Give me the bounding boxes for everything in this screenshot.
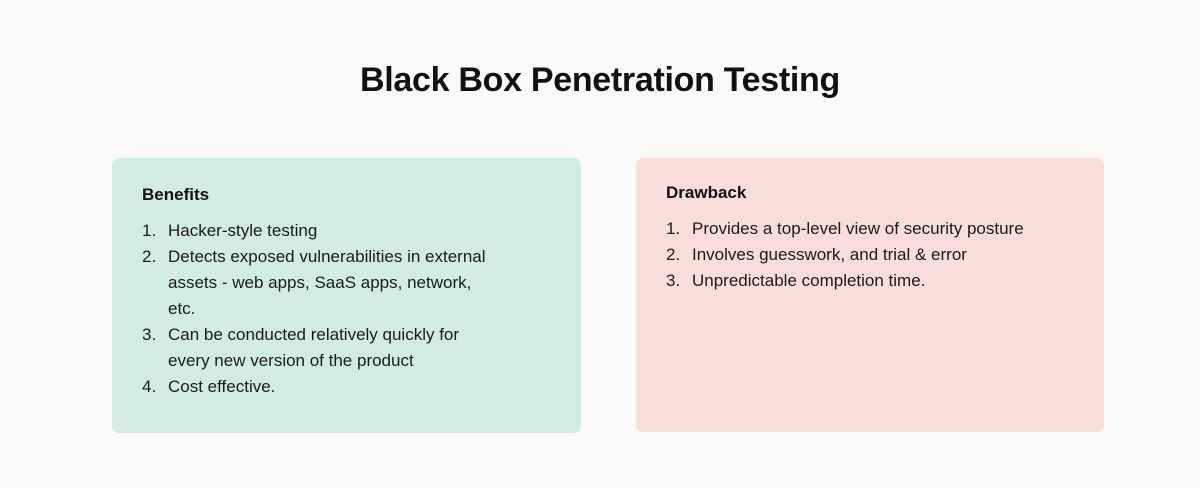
- cards-row: Benefits Hacker-style testing Detects ex…: [112, 158, 1104, 433]
- list-item: Unpredictable completion time.: [666, 268, 1027, 294]
- list-item: Detects exposed vulnerabilities in exter…: [142, 244, 498, 322]
- list-item: Hacker-style testing: [142, 218, 498, 244]
- list-item: Provides a top-level view of security po…: [666, 216, 1027, 242]
- benefits-list: Hacker-style testing Detects exposed vul…: [142, 218, 559, 400]
- drawback-list: Provides a top-level view of security po…: [666, 216, 1082, 294]
- list-item: Cost effective.: [142, 374, 498, 400]
- page-title: Black Box Penetration Testing: [0, 58, 1200, 102]
- benefits-card: Benefits Hacker-style testing Detects ex…: [112, 158, 581, 433]
- drawback-card: Drawback Provides a top-level view of se…: [636, 158, 1104, 432]
- list-item: Can be conducted relatively quickly for …: [142, 322, 498, 374]
- list-item: Involves guesswork, and trial & error: [666, 242, 1027, 268]
- drawback-card-heading: Drawback: [666, 182, 1082, 204]
- benefits-card-heading: Benefits: [142, 184, 559, 206]
